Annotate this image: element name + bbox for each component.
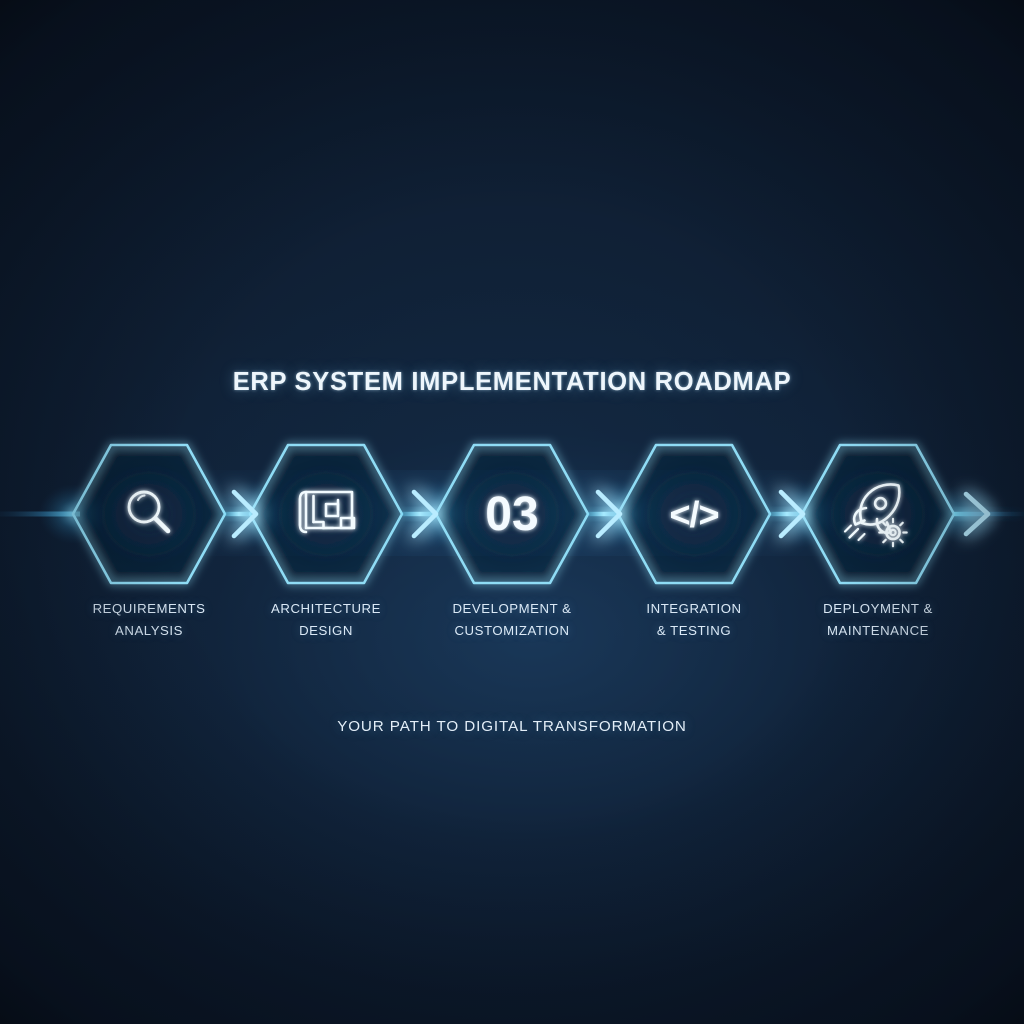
roadmap-diagram: 03 </>: [0, 430, 1024, 610]
step-label-1-line1: REQUIREMENTS: [93, 601, 206, 616]
step-label-4-line2: & TESTING: [599, 620, 789, 642]
step-label-5-line2: MAINTENANCE: [783, 620, 973, 642]
hexagon-step-5[interactable]: [802, 445, 954, 583]
step-label-5: DEPLOYMENT & MAINTENANCE: [783, 598, 973, 641]
step-label-3: DEVELOPMENT & CUSTOMIZATION: [417, 598, 607, 641]
step-label-4: INTEGRATION & TESTING: [599, 598, 789, 641]
step-label-2: ARCHITECTURE DESIGN: [231, 598, 421, 641]
step-label-5-line1: DEPLOYMENT &: [823, 601, 933, 616]
step-label-1-line2: ANALYSIS: [54, 620, 244, 642]
step-label-3-line2: CUSTOMIZATION: [417, 620, 607, 642]
step-label-2-line2: DESIGN: [231, 620, 421, 642]
roadmap-infographic: ERP SYSTEM IMPLEMENTATION ROADMAP: [0, 0, 1024, 1024]
step-number-03: 03: [485, 488, 538, 541]
step-label-1: REQUIREMENTS ANALYSIS: [54, 598, 244, 641]
step-label-3-line1: DEVELOPMENT &: [452, 601, 571, 616]
page-title: ERP SYSTEM IMPLEMENTATION ROADMAP: [0, 368, 1024, 397]
code-tag-icon: </>: [669, 494, 718, 535]
hexagon-step-1[interactable]: [73, 445, 225, 583]
step-labels: REQUIREMENTS ANALYSIS ARCHITECTURE DESIG…: [0, 598, 1024, 660]
tagline: YOUR PATH TO DIGITAL TRANSFORMATION: [0, 718, 1024, 735]
step-label-4-line1: INTEGRATION: [646, 601, 741, 616]
step-label-2-line1: ARCHITECTURE: [271, 601, 381, 616]
